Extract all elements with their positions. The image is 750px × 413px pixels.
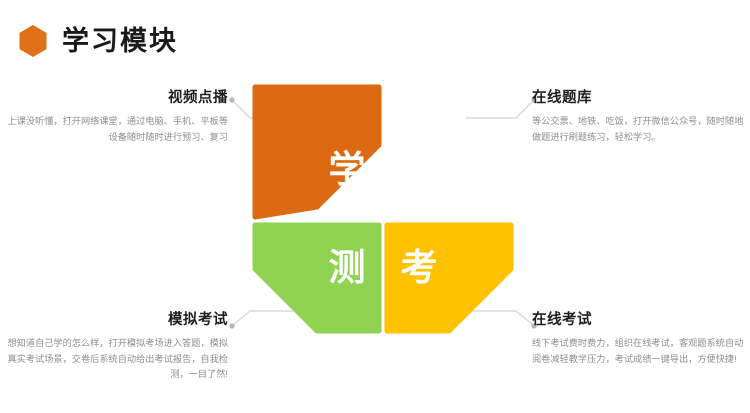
info-block-exam: 在线考试 线下考试费时费力，组织在线考试，客观题系统自动阅卷减轻教学压力，考试成…	[532, 312, 750, 367]
hexagon-icon	[18, 24, 48, 58]
petal-label-test: 测	[329, 247, 366, 288]
info-desc-mock: 想知道自己学的怎么样，打开模拟考场进入答题，模拟真实考试场景，交卷后系统自动给出…	[0, 336, 228, 382]
info-title-mock: 模拟考试	[0, 312, 228, 329]
slide-header: 学习模块	[18, 24, 178, 58]
info-title-video: 视频点播	[0, 90, 228, 107]
info-desc-video: 上课没听懂，打开网络课堂，通过电脑、手机、平板等设备随时随时进行预习、复习	[0, 114, 228, 144]
petal-study[interactable]: 学	[255, 87, 379, 217]
info-title-exam: 在线考试	[532, 312, 750, 329]
info-block-mock: 模拟考试 想知道自己学的怎么样，打开模拟考场进入答题，模拟真实考试场景，交卷后系…	[0, 312, 228, 382]
petal-exam[interactable]: 考	[387, 225, 511, 331]
petal-label-exam: 考	[401, 247, 438, 288]
info-block-video: 视频点播 上课没听懂，打开网络课堂，通过电脑、手机、平板等设备随时随时进行预习、…	[0, 90, 228, 145]
slide-canvas: 学习模块 学 练	[0, 0, 750, 413]
info-title-bank: 在线题库	[532, 90, 750, 107]
page-title: 学习模块	[62, 28, 178, 55]
connector-dot-mock	[229, 323, 234, 328]
petal-test[interactable]: 测	[255, 225, 379, 331]
connector-dot-video	[229, 97, 234, 102]
center-pinwheel: 学 练 测 考	[243, 84, 523, 334]
info-desc-bank: 等公交票、地铁、吃饭，打开微信公众号，随时随地做题进行刷题练习，轻松学习。	[532, 114, 750, 144]
info-block-bank: 在线题库 等公交票、地铁、吃饭，打开微信公众号，随时随地做题进行刷题练习，轻松学…	[532, 90, 750, 145]
petal-label-practice: 练	[401, 149, 438, 190]
petal-label-study: 学	[329, 148, 366, 190]
info-desc-exam: 线下考试费时费力，组织在线考试，客观题系统自动阅卷减轻教学压力，考试成绩一键导出…	[532, 336, 750, 366]
